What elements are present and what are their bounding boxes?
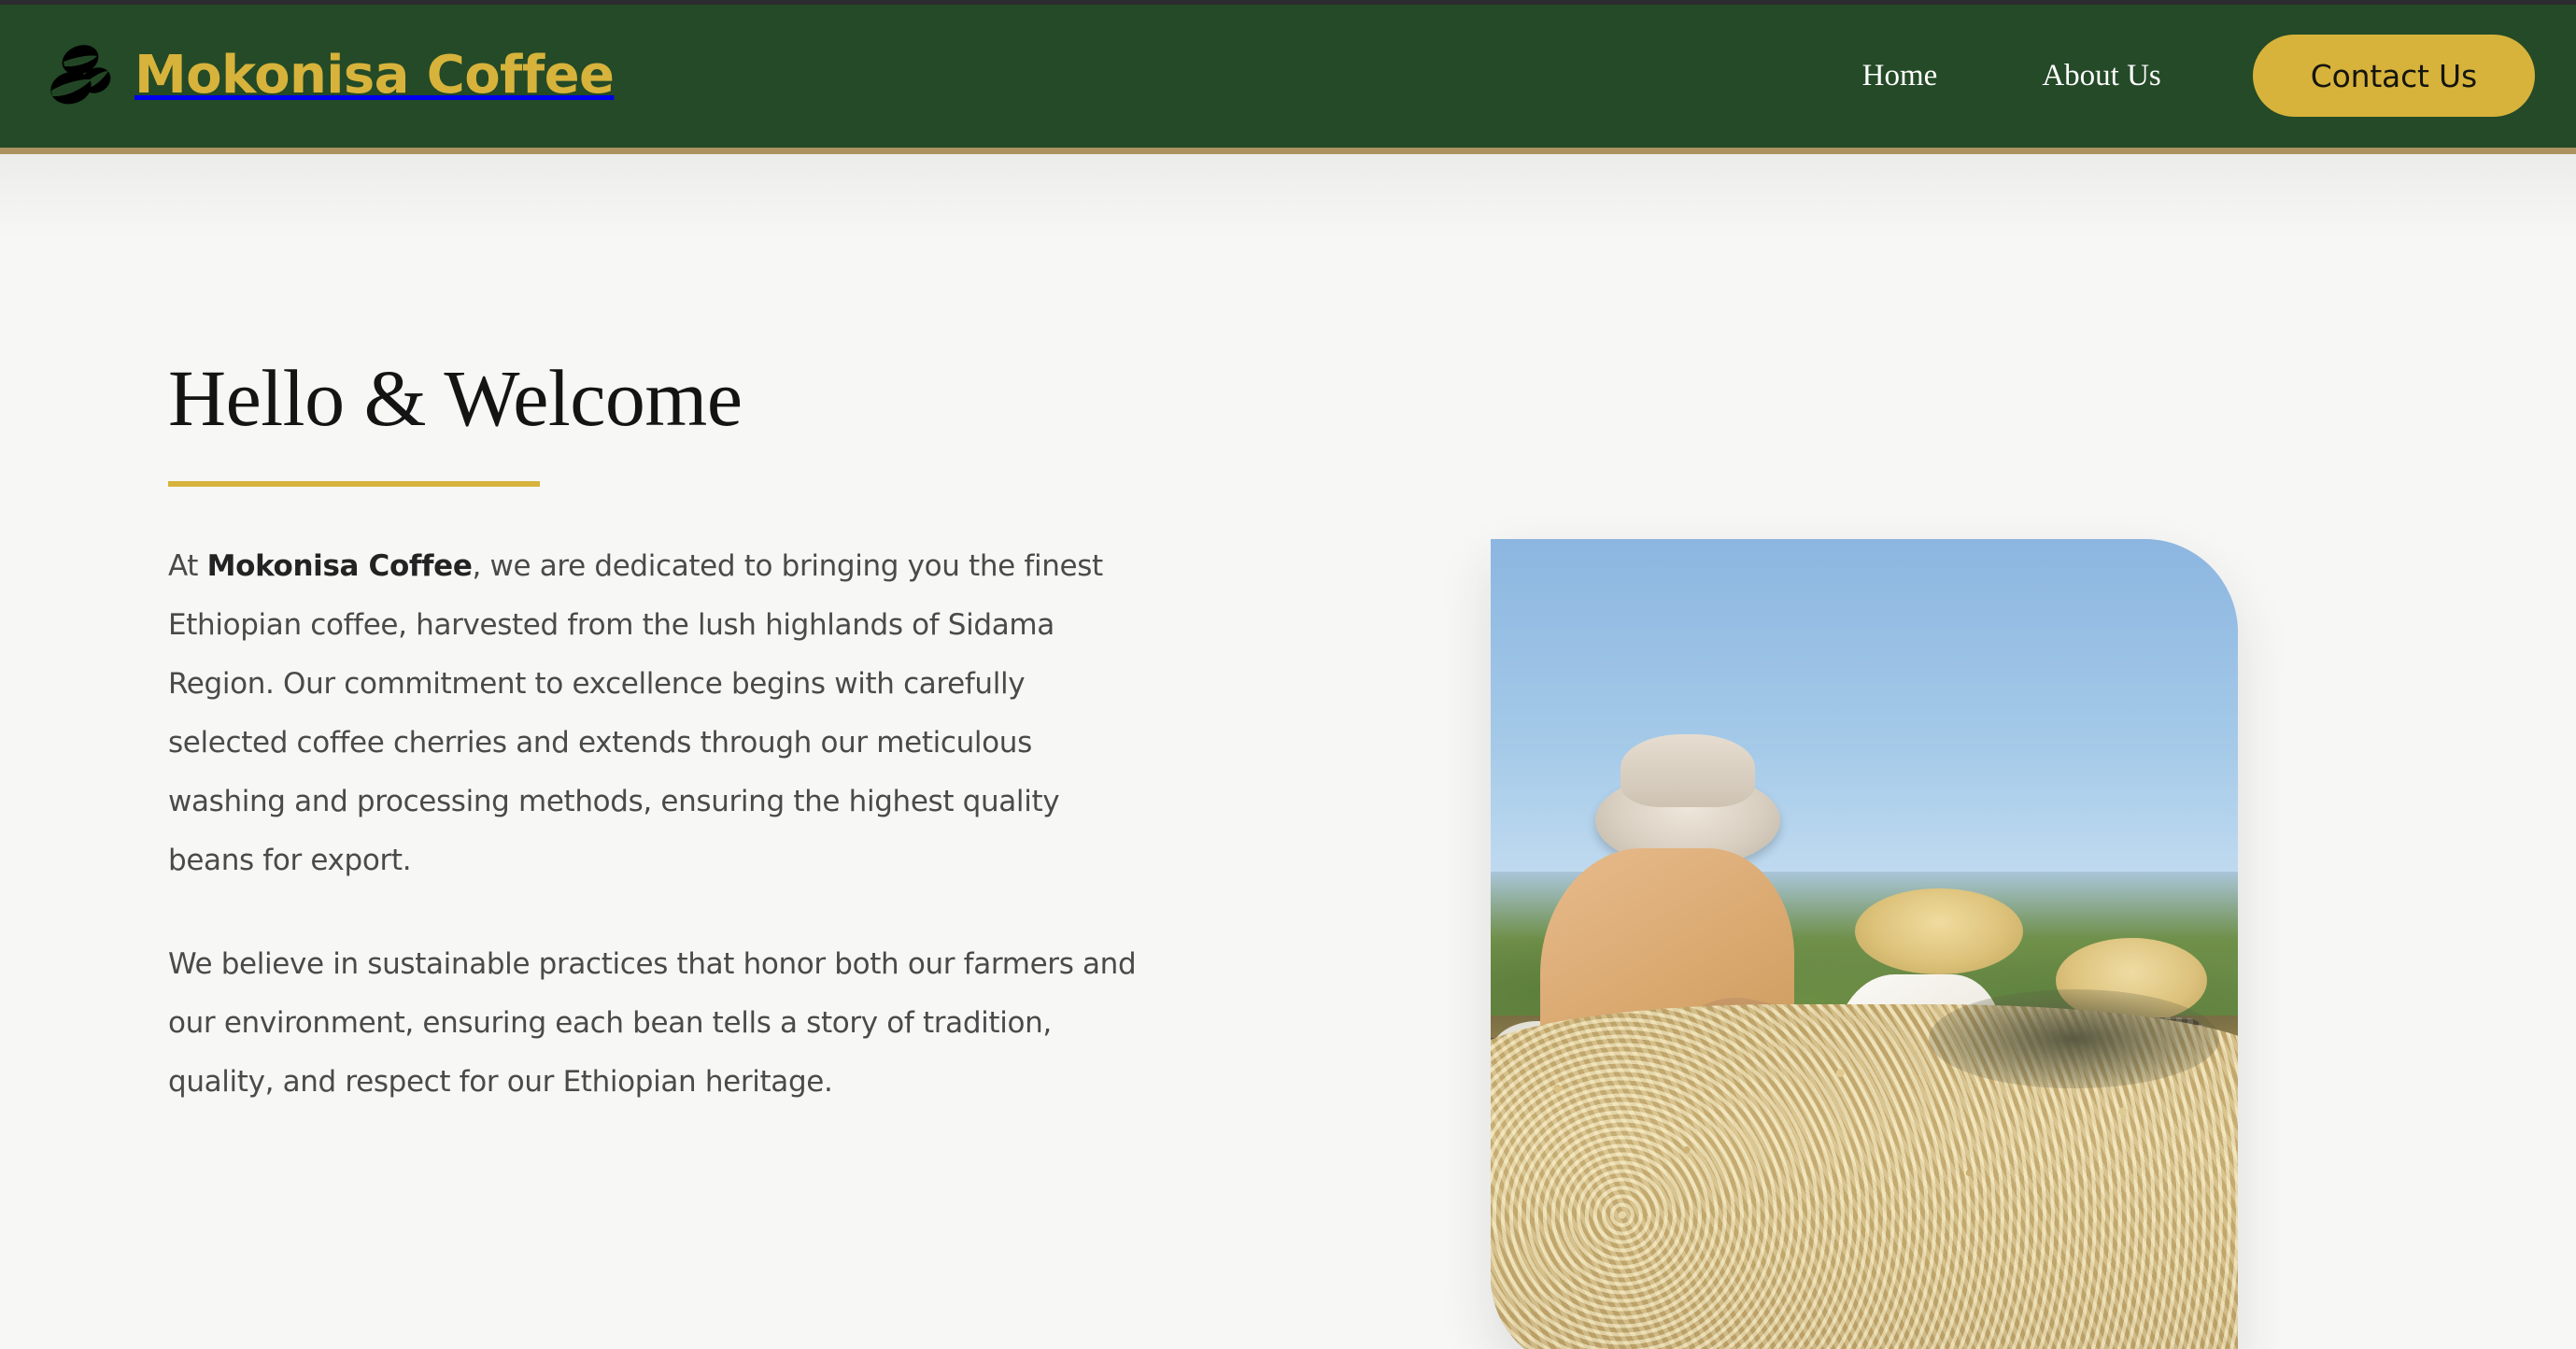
title-underline-rule: [168, 481, 540, 487]
nav-item-about-us[interactable]: About Us: [1989, 61, 2213, 92]
contact-us-button[interactable]: Contact Us: [2253, 35, 2535, 117]
about-paragraph-1: At Mokonisa Coffee, we are dedicated to …: [168, 537, 1144, 890]
page-title: Hello & Welcome: [168, 358, 1168, 438]
site-header: Mokonisa Coffee Home About Us Contact Us: [0, 4, 2576, 148]
about-paragraph-2: We believe in sustainable practices that…: [168, 935, 1144, 1112]
brand-name: Mokonisa Coffee: [134, 50, 614, 102]
brand-emphasis: Mokonisa Coffee: [207, 549, 473, 583]
paragraph-lead: At: [168, 549, 207, 583]
nav-item-home[interactable]: Home: [1810, 61, 1990, 92]
brand-logo-link[interactable]: Mokonisa Coffee: [45, 41, 614, 110]
paragraph-rest: , we are dedicated to bringing you the f…: [168, 549, 1103, 877]
photo-coffee-bean-bed: [1491, 1004, 2238, 1349]
coffee-beans-icon: [45, 41, 114, 110]
photo-worker-hat: [1855, 888, 2023, 975]
about-section: Hello & Welcome At Mokonisa Coffee, we a…: [0, 154, 2576, 1349]
coffee-farmers-drying-beans-photo: [1491, 539, 2238, 1349]
about-text-column: Hello & Welcome At Mokonisa Coffee, we a…: [168, 358, 1168, 1112]
main-navigation: Home About Us Contact Us: [1810, 35, 2535, 117]
browser-top-edge: [0, 0, 2576, 5]
page-body: Hello & Welcome At Mokonisa Coffee, we a…: [0, 154, 2576, 1349]
